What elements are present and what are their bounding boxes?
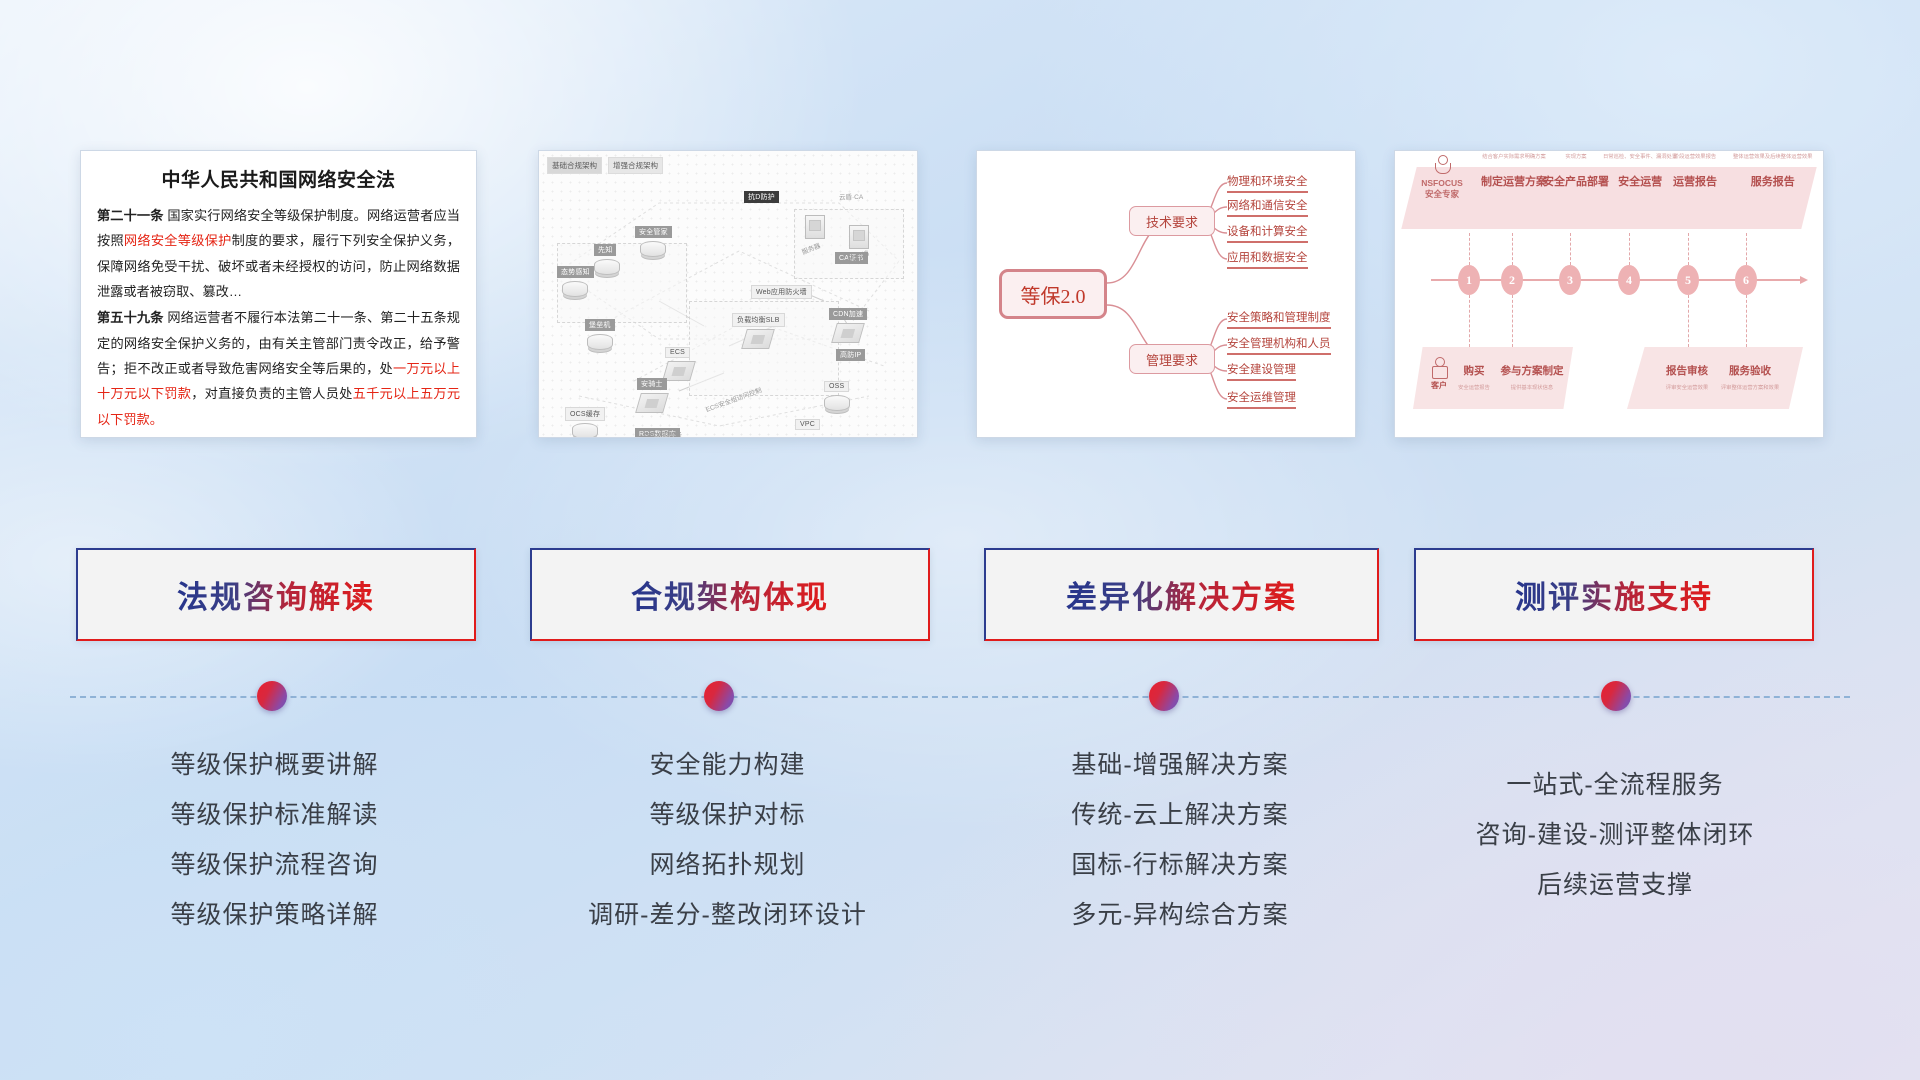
timeline-dashed-line [70, 696, 1850, 698]
customer-person-icon [1430, 357, 1448, 379]
node-security-butler[interactable]: 安全管家 [635, 221, 672, 257]
node-situational-awareness[interactable]: 态势感知 [557, 261, 594, 297]
law-article-21-label: 第二十一条 [97, 208, 164, 223]
node-xianzhi[interactable]: 先知 [594, 239, 620, 275]
band-step-2[interactable]: 实现方案 安全产品部署 [1543, 155, 1609, 189]
title-label: 测评实施支持 [1515, 572, 1713, 617]
detail-column-3: 基础-增强解决方案 传统-云上解决方案 国标-行标解决方案 多元-异构综合方案 [970, 740, 1390, 940]
roadmap-tick-4 [1629, 233, 1630, 265]
roadmap-tick-down-2 [1512, 295, 1513, 347]
law-article-21-highlight: 网络安全等级保护 [124, 233, 232, 248]
law-title: 中华人民共和国网络安全法 [97, 165, 460, 192]
title-box-assessment-support[interactable]: 测评实施支持 [1414, 548, 1814, 641]
title-box-regulation-consulting[interactable]: 法规咨询解读 [76, 548, 476, 641]
list-item: 等级保护策略详解 [72, 890, 477, 940]
nsfocus-role: 安全专家 [1411, 189, 1473, 200]
label-data-encryption: 数据加密服务 [643, 429, 682, 438]
server-icon [805, 215, 825, 239]
law-article-21: 第二十一条 国家实行网络安全等级保护制度。网络运营者应当按照网络安全等级保护制度… [97, 203, 460, 304]
box-icon [741, 329, 775, 349]
list-item: 等级保护流程咨询 [72, 840, 477, 890]
law-article-59: 第五十九条 网络运营者不履行本法第二十一条、第二十五条规定的网络安全保护义务的，… [97, 305, 460, 432]
mindmap: 等保2.0 技术要求 管理要求 物理和环境安全 网络和通信安全 设备和计算安全 … [977, 151, 1355, 437]
node-server[interactable] [805, 213, 825, 239]
mindmap-leaf-org-personnel[interactable]: 安全管理机构和人员 [1227, 335, 1331, 355]
timeline-dot-2[interactable] [704, 681, 734, 711]
box-icon [635, 393, 669, 413]
mindmap-leaf-physical-env[interactable]: 物理和环境安全 [1227, 173, 1308, 193]
roadmap-marker-1[interactable]: 1 [1458, 265, 1480, 295]
roadmap-marker-6[interactable]: 6 [1735, 265, 1757, 295]
cylinder-icon [572, 423, 598, 438]
title-box-row: 法规咨询解读 合规架构体现 差异化解决方案 测评实施支持 [0, 548, 1920, 648]
node-cdn[interactable]: CDN加速 [829, 303, 867, 343]
node-slb[interactable]: 负载均衡SLB [732, 309, 785, 349]
law-article-59-label: 第五十九条 [97, 310, 164, 325]
cylinder-icon [587, 334, 613, 350]
mindmap-leaf-app-data[interactable]: 应用和数据安全 [1227, 249, 1308, 269]
roadmap-tick-6 [1746, 233, 1747, 265]
node-gaofang-ip[interactable]: 高防IP [836, 344, 865, 362]
law-article-59-text-b: ，对直接负责的主管人员处 [191, 386, 352, 401]
detail-column-4: 一站式-全流程服务 咨询-建设-测评整体闭环 后续运营支撑 [1410, 760, 1820, 910]
roadmap-marker-4[interactable]: 4 [1618, 265, 1640, 295]
list-item: 等级保护概要讲解 [72, 740, 477, 790]
label-yunjian-ca: 云盾·CA [839, 191, 863, 201]
roadmap-bottom-item-report-review[interactable]: 报告审核 评审安全运营效果 [1657, 363, 1717, 391]
roadmap-marker-3[interactable]: 3 [1559, 265, 1581, 295]
pc-icon [849, 225, 869, 249]
title-label: 差异化解决方案 [1066, 572, 1297, 617]
cylinder-icon [594, 259, 620, 275]
roadmap-tick-down-6 [1746, 295, 1747, 347]
list-item: 传统-云上解决方案 [970, 790, 1390, 840]
roadmap-bottom-item-purchase[interactable]: 购买 安全运营报告 [1451, 363, 1497, 391]
detail-column-1: 等级保护概要讲解 等级保护标准解读 等级保护流程咨询 等级保护策略详解 [72, 740, 477, 940]
roadmap-tick-1 [1469, 233, 1470, 265]
roadmap-tick-2 [1512, 233, 1513, 265]
band-step-4[interactable]: 阶段运营效果报告 运营报告 [1673, 155, 1717, 189]
node-anti-ddos[interactable]: 抗D防护 [744, 186, 779, 204]
mindmap-leaf-ops-mgmt[interactable]: 安全运维管理 [1227, 389, 1296, 409]
band-step-5[interactable]: 整体运营效果及后续整体运营效果 服务报告 [1733, 155, 1812, 189]
node-vpc[interactable]: VPC [795, 413, 820, 431]
image-card-row: 中华人民共和国网络安全法 第二十一条 国家实行网络安全等级保护制度。网络运营者应… [0, 150, 1920, 440]
nsfocus-expert-badge: NSFOCUS 安全专家 [1411, 155, 1473, 199]
mindmap-leaf-network-comm[interactable]: 网络和通信安全 [1227, 197, 1308, 217]
mindmap-leaf-construction-mgmt[interactable]: 安全建设管理 [1227, 361, 1296, 381]
list-item: 多元-异构综合方案 [970, 890, 1390, 940]
title-label: 合规架构体现 [631, 572, 829, 617]
roadmap-bottom-item-acceptance[interactable]: 服务验收 评审整体运营方案和效果 [1717, 363, 1783, 391]
mindmap-leaf-device-compute[interactable]: 设备和计算安全 [1227, 223, 1308, 243]
card-dengbao-mindmap[interactable]: 等保2.0 技术要求 管理要求 物理和环境安全 网络和通信安全 设备和计算安全 … [976, 150, 1356, 438]
list-item: 国标-行标解决方案 [970, 840, 1390, 890]
list-item: 后续运营支撑 [1410, 860, 1820, 910]
title-label: 法规咨询解读 [177, 572, 375, 617]
mindmap-branch-management[interactable]: 管理要求 [1129, 344, 1215, 374]
law-text-body: 中华人民共和国网络安全法 第二十一条 国家实行网络安全等级保护制度。网络运营者应… [81, 151, 476, 438]
node-anqishi[interactable]: 安骑士 [637, 373, 667, 413]
list-item: 调研-差分-整改闭环设计 [525, 890, 930, 940]
timeline-dot-1[interactable] [257, 681, 287, 711]
list-item: 一站式-全流程服务 [1410, 760, 1820, 810]
title-box-compliance-architecture[interactable]: 合规架构体现 [530, 548, 930, 641]
card-nsfocus-roadmap[interactable]: NSFOCUS 安全专家 结合客户实际需求明确方案 制定运营方案 实现方案 安全… [1394, 150, 1824, 438]
roadmap-tick-down-5 [1688, 295, 1689, 347]
node-waf[interactable]: Web应用防火墙 [751, 281, 812, 299]
box-icon [662, 361, 696, 381]
roadmap-marker-2[interactable]: 2 [1501, 265, 1523, 295]
title-box-differentiated-solution[interactable]: 差异化解决方案 [984, 548, 1379, 641]
card-compliance-architecture[interactable]: 基础合规架构 增强合规架构 [538, 150, 918, 438]
list-item: 安全能力构建 [525, 740, 930, 790]
band-step-3[interactable]: 日常巡检、安全事件、漏洞处置 安全运营 [1603, 155, 1677, 189]
timeline-dot-3[interactable] [1149, 681, 1179, 711]
roadmap-tick-3 [1570, 233, 1571, 265]
node-pc-terminal[interactable] [849, 223, 869, 249]
list-item: 基础-增强解决方案 [970, 740, 1390, 790]
mindmap-leaf-policy-system[interactable]: 安全策略和管理制度 [1227, 309, 1331, 329]
timeline-dot-4[interactable] [1601, 681, 1631, 711]
list-item: 网络拓扑规划 [525, 840, 930, 890]
roadmap-tick-5 [1688, 233, 1689, 265]
node-ocs-cache[interactable]: OCS缓存 [565, 403, 605, 438]
box-icon [831, 323, 865, 343]
mindmap-branch-technical[interactable]: 技术要求 [1129, 206, 1215, 236]
detail-column-2: 安全能力构建 等级保护对标 网络拓扑规划 调研-差分-整改闭环设计 [525, 740, 930, 940]
cylinder-icon [640, 241, 666, 257]
roadmap-bottom-item-participate[interactable]: 参与方案制定 提供基本现状信息 [1499, 363, 1565, 391]
roadmap-marker-5[interactable]: 5 [1677, 265, 1699, 295]
node-ecs[interactable]: ECS [665, 341, 693, 381]
list-item: 咨询-建设-测评整体闭环 [1410, 810, 1820, 860]
cylinder-icon [562, 281, 588, 297]
expert-person-icon [1434, 155, 1450, 177]
mindmap-root-node[interactable]: 等保2.0 [999, 269, 1107, 319]
card-cybersecurity-law[interactable]: 中华人民共和国网络安全法 第二十一条 国家实行网络安全等级保护制度。网络运营者应… [80, 150, 477, 438]
roadmap-tick-down-1 [1469, 295, 1470, 347]
cylinder-icon [824, 395, 850, 411]
list-item: 等级保护对标 [525, 790, 930, 840]
architecture-diagram: 基础合规架构 增强合规架构 [539, 151, 917, 437]
node-oss[interactable]: OSS [824, 375, 850, 411]
nsfocus-brand: NSFOCUS [1411, 178, 1473, 189]
band-step-1[interactable]: 结合客户实际需求明确方案 制定运营方案 [1481, 155, 1547, 189]
roadmap-diagram: NSFOCUS 安全专家 结合客户实际需求明确方案 制定运营方案 实现方案 安全… [1395, 151, 1823, 437]
node-bastion-host[interactable]: 堡垒机 [585, 314, 615, 350]
list-item: 等级保护标准解读 [72, 790, 477, 840]
